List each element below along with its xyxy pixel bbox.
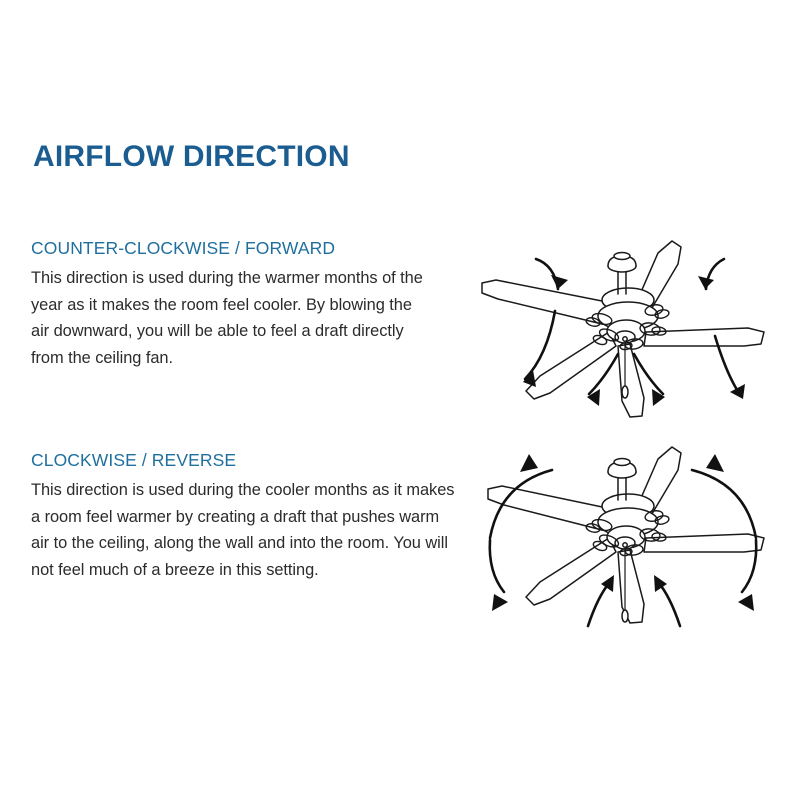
ceiling-fan-downdraft-diagram — [476, 236, 776, 426]
section-counter-clockwise: COUNTER-CLOCKWISE / FORWARD This directi… — [31, 238, 461, 371]
section-body-counter-clockwise: This direction is used during the warmer… — [31, 265, 431, 371]
page-title: AIRFLOW DIRECTION — [33, 140, 350, 173]
section-clockwise: CLOCKWISE / REVERSE This direction is us… — [31, 450, 461, 583]
section-heading-counter-clockwise: COUNTER-CLOCKWISE / FORWARD — [31, 238, 461, 259]
section-body-clockwise: This direction is used during the cooler… — [31, 477, 456, 583]
ceiling-fan-updraft-diagram — [466, 436, 778, 642]
airflow-direction-page: AIRFLOW DIRECTION COUNTER-CLOCKWISE / FO… — [0, 0, 800, 800]
section-heading-clockwise: CLOCKWISE / REVERSE — [31, 450, 461, 471]
